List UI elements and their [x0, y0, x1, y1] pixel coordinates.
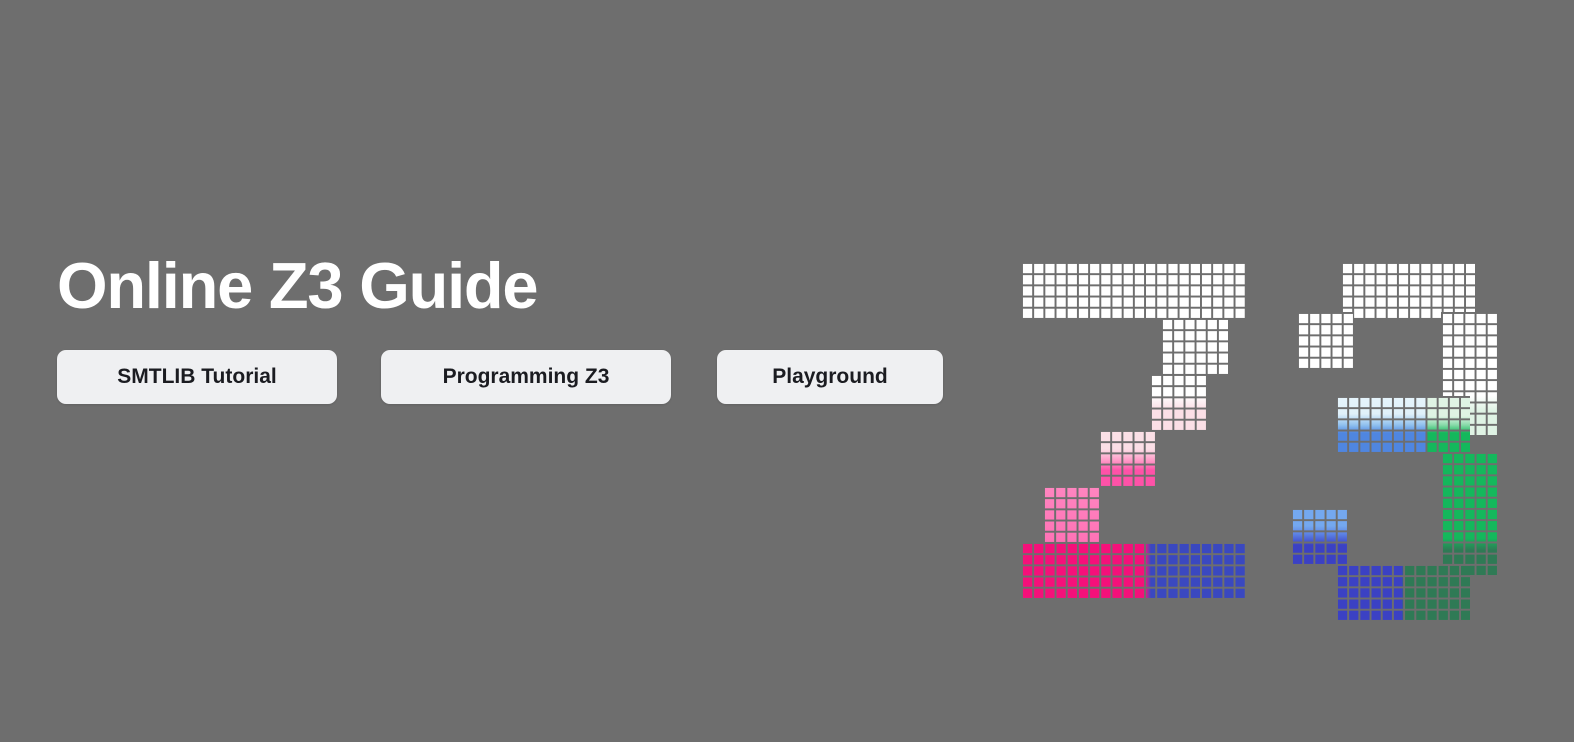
three-right-lower-fill [1441, 452, 1497, 575]
three-bottom-bar [1336, 564, 1470, 620]
z-step-3 [1099, 430, 1155, 486]
cta-button-row: SMTLIB Tutorial Programming Z3 Playgroun… [57, 350, 943, 404]
z3-pixel-logo [1021, 262, 1521, 582]
three-right-lower [1441, 452, 1497, 575]
z-step-1 [1161, 318, 1228, 374]
z-step-2-fill [1150, 374, 1206, 430]
three-left-stub-2 [1291, 508, 1347, 564]
playground-button[interactable]: Playground [717, 350, 943, 404]
z-step-1-fill [1161, 318, 1228, 374]
three-top-bar-fill [1341, 262, 1475, 318]
three-left-stub-2-fill [1291, 508, 1347, 564]
smtlib-tutorial-button[interactable]: SMTLIB Tutorial [57, 350, 337, 404]
z-bottom-bar-fill [1021, 542, 1245, 598]
three-left-stub [1297, 312, 1353, 368]
z-top-bar-fill [1021, 262, 1245, 318]
hero-section: Online Z3 Guide SMTLIB Tutorial Programm… [57, 252, 943, 404]
z-step-3-fill [1099, 430, 1155, 486]
three-middle-bar-fill [1336, 396, 1470, 452]
three-middle-bar-green-part [1426, 396, 1471, 452]
three-top-bar [1341, 262, 1475, 318]
z-step-4-fill [1043, 486, 1099, 542]
three-bottom-bar-fill [1336, 564, 1470, 620]
page-root: Online Z3 Guide SMTLIB Tutorial Programm… [0, 0, 1574, 742]
z-step-4 [1043, 486, 1099, 542]
z-step-2 [1150, 374, 1206, 430]
page-title: Online Z3 Guide [57, 252, 943, 321]
three-middle-bar [1336, 396, 1470, 452]
programming-z3-button[interactable]: Programming Z3 [381, 350, 671, 404]
z-bottom-bar [1021, 542, 1245, 598]
three-left-stub-fill [1297, 312, 1353, 368]
z-top-bar [1021, 262, 1245, 318]
